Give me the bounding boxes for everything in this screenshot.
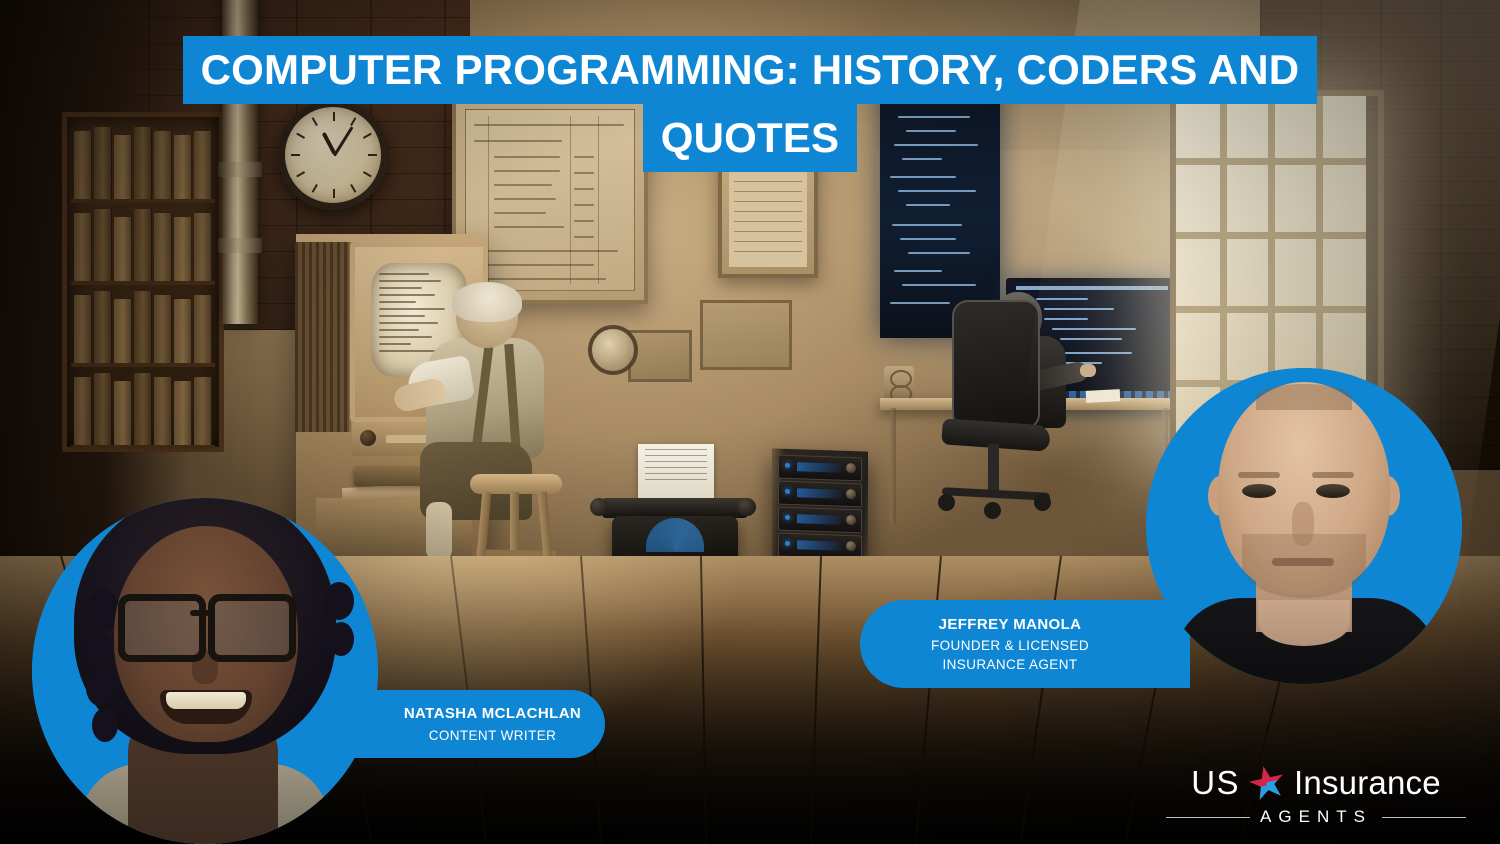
title-line-2: QUOTES xyxy=(643,104,858,172)
title-line-1: COMPUTER PROGRAMMING: HISTORY, CODERS AN… xyxy=(183,36,1318,104)
contributor-name-jeffrey: JEFFREY MANOLA xyxy=(860,614,1160,637)
framed-document-extra xyxy=(700,300,792,370)
avatar-photo-natasha xyxy=(32,498,378,844)
avatar-jeffrey[interactable] xyxy=(1146,368,1462,684)
logo-insurance-text: Insurance xyxy=(1294,764,1441,802)
logo-us-text: US xyxy=(1191,764,1240,802)
contributor-role-natasha: CONTENT WRITER xyxy=(380,726,605,745)
contributor-badge-jeffrey[interactable]: JEFFREY MANOLA FOUNDER & LICENSED INSURA… xyxy=(860,600,1190,688)
desk-paper xyxy=(1086,389,1121,403)
contributor-role-jeffrey-line2: INSURANCE AGENT xyxy=(860,655,1160,674)
contributor-name-natasha: NATASHA MCLACHLAN xyxy=(380,703,605,726)
desk-leg-left xyxy=(890,408,896,524)
avatar-photo-jeffrey xyxy=(1146,368,1462,684)
star-icon xyxy=(1249,765,1285,801)
avatar-natasha[interactable] xyxy=(32,498,378,844)
page-title: COMPUTER PROGRAMMING: HISTORY, CODERS AN… xyxy=(0,36,1500,172)
desk-speaker xyxy=(884,366,914,402)
logo-rule-right xyxy=(1382,817,1466,818)
logo[interactable]: US Insurance AG xyxy=(1166,762,1466,834)
logo-rule-left xyxy=(1166,817,1250,818)
office-chair xyxy=(938,382,1054,562)
hero-banner: COMPUTER PROGRAMMING: HISTORY, CODERS AN… xyxy=(0,0,1500,844)
logo-agents-text: AGENTS xyxy=(1260,807,1372,827)
contributor-role-jeffrey-line1: FOUNDER & LICENSED xyxy=(860,636,1160,655)
framed-document-extra-2 xyxy=(628,330,692,382)
wall-gauge-icon xyxy=(588,325,638,375)
